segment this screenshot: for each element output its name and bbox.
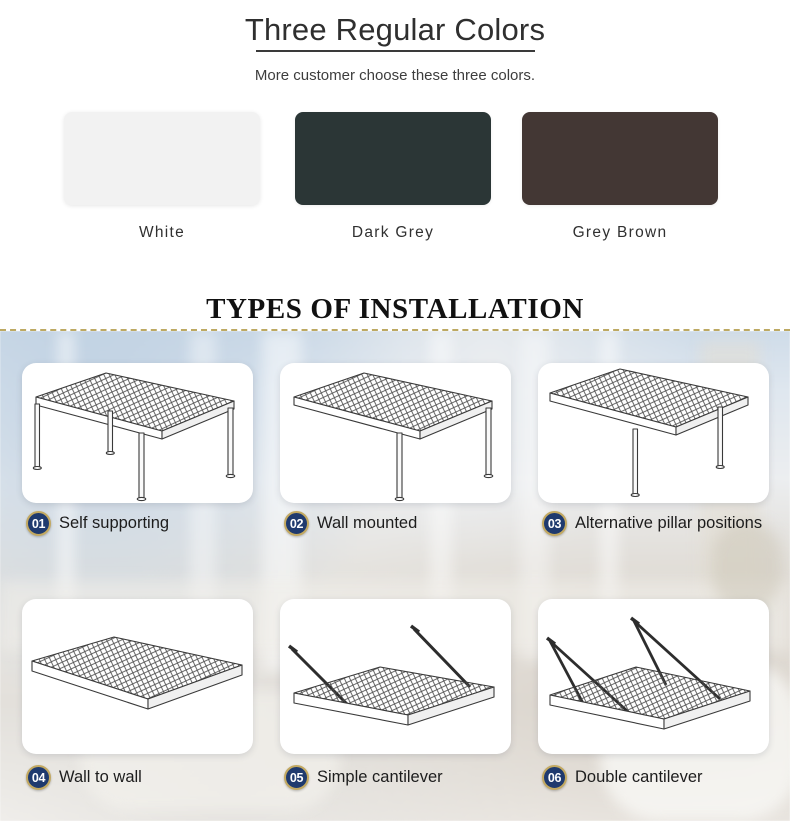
caption-06: 06 Double cantilever bbox=[542, 765, 703, 790]
installation-card-02[interactable] bbox=[280, 363, 511, 503]
swatch-label-dark-grey: Dark Grey bbox=[295, 224, 491, 242]
pergola-two-front-legs-icon bbox=[280, 363, 511, 503]
caption-03: 03 Alternative pillar positions bbox=[542, 511, 762, 536]
badge-number-06: 06 bbox=[542, 765, 567, 790]
installation-cards-grid: 01 Self supporting bbox=[0, 331, 790, 821]
pergola-four-legs-icon bbox=[22, 363, 253, 503]
installation-card-05[interactable] bbox=[280, 599, 511, 754]
badge-number-05: 05 bbox=[284, 765, 309, 790]
pergola-two-mid-pillars-icon bbox=[538, 363, 769, 503]
flat-canopy-no-legs-icon bbox=[22, 599, 253, 754]
color-swatch-white[interactable]: White bbox=[64, 112, 260, 242]
caption-label-03: Alternative pillar positions bbox=[575, 514, 762, 533]
installation-card-03[interactable] bbox=[538, 363, 769, 503]
colors-title: Three Regular Colors bbox=[0, 12, 790, 48]
installation-card-04[interactable] bbox=[22, 599, 253, 754]
caption-01: 01 Self supporting bbox=[26, 511, 169, 536]
badge-number-03: 03 bbox=[542, 511, 567, 536]
badge-number-02: 02 bbox=[284, 511, 309, 536]
product-info-page: Three Regular Colors More customer choos… bbox=[0, 0, 790, 821]
swatch-chip-dark-grey[interactable] bbox=[295, 112, 491, 205]
canopy-four-cables-icon bbox=[538, 599, 769, 754]
diagram-card[interactable] bbox=[22, 363, 253, 503]
caption-02: 02 Wall mounted bbox=[284, 511, 417, 536]
installation-card-06[interactable] bbox=[538, 599, 769, 754]
swatch-chip-white[interactable] bbox=[64, 112, 260, 205]
canopy-two-cables-icon bbox=[280, 599, 511, 754]
caption-label-02: Wall mounted bbox=[317, 514, 417, 533]
caption-04: 04 Wall to wall bbox=[26, 765, 142, 790]
title-underline bbox=[256, 50, 535, 52]
badge-number-04: 04 bbox=[26, 765, 51, 790]
diagram-card[interactable] bbox=[538, 599, 769, 754]
three-regular-colors-section: Three Regular Colors More customer choos… bbox=[0, 0, 790, 330]
caption-05: 05 Simple cantilever bbox=[284, 765, 443, 790]
caption-label-04: Wall to wall bbox=[59, 768, 142, 787]
caption-label-06: Double cantilever bbox=[575, 768, 703, 787]
swatch-label-white: White bbox=[64, 224, 260, 242]
colors-subtitle: More customer choose these three colors. bbox=[0, 67, 790, 84]
swatch-label-grey-brown: Grey Brown bbox=[522, 224, 718, 242]
swatch-chip-grey-brown[interactable] bbox=[522, 112, 718, 205]
diagram-card[interactable] bbox=[280, 599, 511, 754]
diagram-card[interactable] bbox=[22, 599, 253, 754]
caption-label-01: Self supporting bbox=[59, 514, 169, 533]
color-swatch-row: White Dark Grey Grey Brown bbox=[0, 112, 790, 252]
installation-panel: 01 Self supporting bbox=[0, 331, 790, 821]
badge-number-01: 01 bbox=[26, 511, 51, 536]
installation-card-01[interactable] bbox=[22, 363, 253, 503]
diagram-card[interactable] bbox=[280, 363, 511, 503]
diagram-card[interactable] bbox=[538, 363, 769, 503]
caption-label-05: Simple cantilever bbox=[317, 768, 443, 787]
color-swatch-grey-brown[interactable]: Grey Brown bbox=[522, 112, 718, 242]
color-swatch-dark-grey[interactable]: Dark Grey bbox=[295, 112, 491, 242]
types-of-installation-heading: TYPES OF INSTALLATION bbox=[0, 293, 790, 326]
